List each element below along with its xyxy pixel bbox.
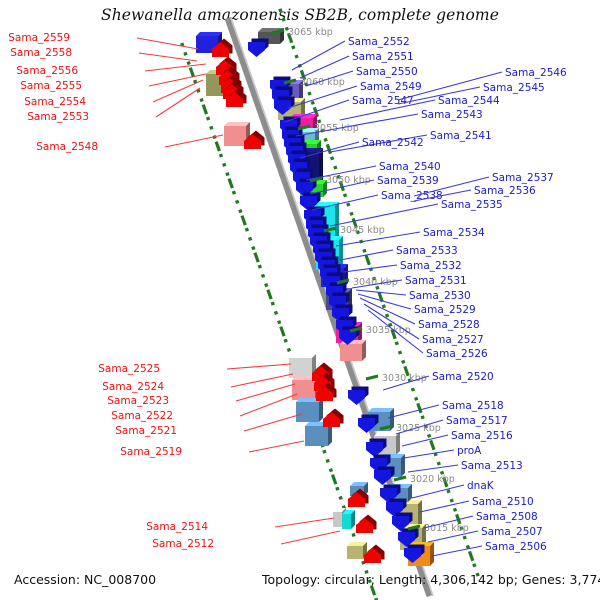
gene-label-forward[interactable]: dnaK: [467, 480, 495, 492]
genome-map-canvas[interactable]: 3065 kbp3060 kbp3055 kbp3050 kbp3045 kbp…: [0, 0, 600, 600]
label-leader-line: [231, 374, 293, 387]
gene-label-reverse[interactable]: Sama_2558: [10, 47, 72, 59]
gene-label-forward[interactable]: Sama_2541: [430, 130, 492, 142]
gene-label-forward[interactable]: Sama_2543: [421, 109, 483, 121]
label-leader-line: [402, 435, 448, 446]
gene-label-forward[interactable]: Sama_2550: [356, 66, 418, 78]
gene-label-forward[interactable]: Sama_2534: [423, 227, 485, 239]
status-bar: Accession: NC_008700 Topology: circular;…: [0, 572, 600, 592]
genome-map-viewer: Shewanella amazonensis SB2B, complete ge…: [0, 0, 600, 600]
gene-label-forward[interactable]: Sama_2531: [405, 275, 467, 287]
scale-tick-label: 3035 kbp: [366, 325, 411, 336]
gene-label-forward[interactable]: Sama_2528: [418, 319, 480, 331]
label-leader-line: [137, 38, 198, 49]
label-leader-line: [412, 485, 464, 498]
gene-label-reverse[interactable]: Sama_2555: [20, 80, 82, 92]
label-leader-line: [404, 450, 454, 458]
scale-tick-label: 3060 kbp: [300, 77, 345, 88]
gene-label-reverse[interactable]: Sama_2522: [111, 410, 173, 422]
label-leader-line: [420, 501, 469, 512]
gene-label-forward[interactable]: Sama_2551: [352, 51, 414, 63]
label-leader-line: [432, 546, 482, 556]
topology-text: Topology: circular; Length: 4,306,142 bp…: [262, 572, 600, 587]
label-leader-line: [244, 414, 302, 431]
label-leader-line: [249, 441, 304, 452]
gene-label-reverse[interactable]: Sama_2556: [16, 65, 78, 77]
gene-label-reverse[interactable]: Sama_2559: [8, 32, 70, 44]
label-leader-line: [139, 53, 197, 61]
label-leader-line: [281, 531, 340, 544]
gene-label-forward[interactable]: Sama_2532: [400, 260, 462, 272]
scale-tick-label: 3015 kbp: [424, 523, 469, 534]
gene-label-forward[interactable]: Sama_2518: [442, 400, 504, 412]
label-leader-line: [292, 41, 345, 70]
label-leader-line: [227, 364, 291, 369]
gene-label-forward[interactable]: Sama_2544: [438, 95, 500, 107]
gene-label-forward[interactable]: Sama_2545: [483, 82, 545, 94]
gene-label-forward[interactable]: Sama_2516: [451, 430, 513, 442]
gene-label-forward[interactable]: Sama_2536: [474, 185, 536, 197]
label-leader-line: [388, 405, 439, 418]
gene-label-reverse[interactable]: Sama_2512: [152, 538, 214, 550]
scale-tick-label: 3050 kbp: [326, 175, 371, 186]
gene-label-forward[interactable]: Sama_2539: [377, 175, 439, 187]
gene-label-forward[interactable]: Sama_2538: [381, 190, 443, 202]
gene-label-forward[interactable]: Sama_2533: [396, 245, 458, 257]
label-leader-line: [275, 518, 334, 527]
gene-label-forward[interactable]: Sama_2547: [352, 95, 414, 107]
scale-tick-label: 3045 kbp: [340, 225, 385, 236]
gene-label-reverse[interactable]: Sama_2548: [36, 141, 98, 153]
gene-label-reverse[interactable]: Sama_2554: [24, 96, 86, 108]
label-leader-line: [165, 135, 223, 147]
accession-text: Accession: NC_008700: [14, 572, 156, 587]
gene-label-forward[interactable]: Sama_2506: [485, 541, 547, 553]
gene-label-forward[interactable]: Sama_2549: [360, 81, 422, 93]
gene-label-forward[interactable]: Sama_2517: [446, 415, 508, 427]
gene-label-forward[interactable]: Sama_2540: [379, 161, 441, 173]
gene-label-reverse[interactable]: Sama_2553: [27, 111, 89, 123]
gene-label-forward[interactable]: Sama_2507: [481, 526, 543, 538]
gene-label-forward[interactable]: Sama_2552: [348, 36, 410, 48]
gene-label-forward[interactable]: Sama_2535: [441, 199, 503, 211]
gene-label-forward[interactable]: Sama_2542: [362, 137, 424, 149]
scale-tick-label: 3065 kbp: [288, 27, 333, 38]
label-leader-line: [330, 204, 438, 226]
label-leader-line: [145, 64, 206, 71]
gene-label-reverse[interactable]: Sama_2524: [102, 381, 164, 393]
gene-label-forward[interactable]: Sama_2508: [476, 511, 538, 523]
scale-tick-label: 3020 kbp: [410, 474, 455, 485]
gene-label-reverse[interactable]: Sama_2514: [146, 521, 208, 533]
gene-label-forward[interactable]: Sama_2546: [505, 67, 567, 79]
gene-label-reverse[interactable]: Sama_2519: [120, 446, 182, 458]
gene-label-forward[interactable]: Sama_2526: [426, 348, 488, 360]
gene-label-forward[interactable]: Sama_2527: [422, 334, 484, 346]
gene-label-forward[interactable]: Sama_2537: [492, 172, 554, 184]
label-leader-line: [149, 74, 206, 86]
gene-label-forward[interactable]: Sama_2510: [472, 496, 534, 508]
gene-label-forward[interactable]: proA: [457, 445, 482, 457]
gene-label-reverse[interactable]: Sama_2525: [98, 363, 160, 375]
gene-label-forward[interactable]: Sama_2520: [432, 371, 494, 383]
gene-label-reverse[interactable]: Sama_2521: [115, 425, 177, 437]
label-leader-line: [156, 88, 200, 117]
label-leader-line: [408, 465, 458, 472]
gene-label-forward[interactable]: Sama_2530: [409, 290, 471, 302]
gene-label-forward[interactable]: Sama_2529: [414, 304, 476, 316]
gene-label-forward[interactable]: Sama_2513: [461, 460, 523, 472]
gene-label-reverse[interactable]: Sama_2523: [107, 395, 169, 407]
